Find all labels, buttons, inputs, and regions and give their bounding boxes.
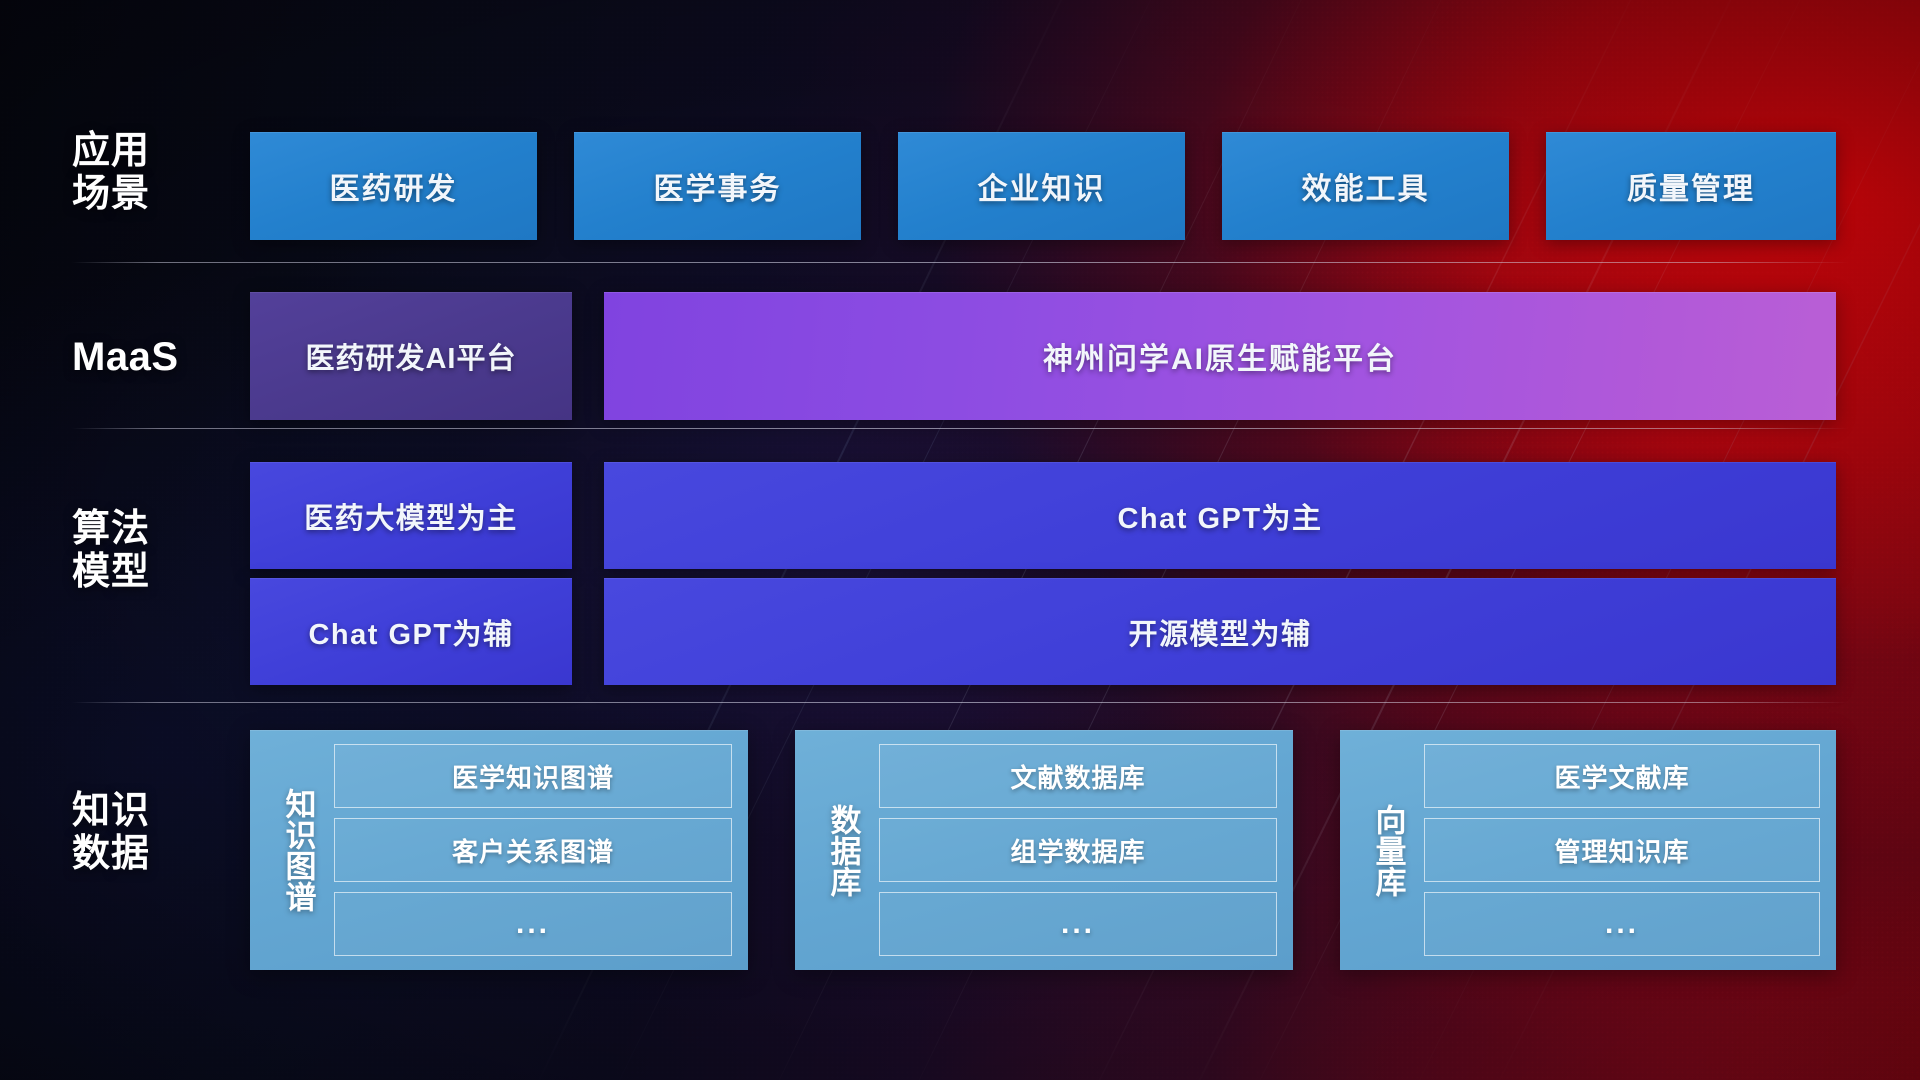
knowledge-item-more[interactable]: ... [879, 892, 1277, 956]
app-box-label: 医学事务 [654, 164, 782, 208]
maas-enablement-platform-label: 神州问学AI原生赋能平台 [1043, 334, 1397, 378]
knowledge-group-vertical-label: 向量库 [1350, 744, 1424, 956]
knowledge-item[interactable]: 管理知识库 [1424, 818, 1820, 882]
row-label-maas: MaaS [72, 335, 262, 381]
row-label-line: 应用 [72, 130, 262, 173]
app-box-4[interactable]: 效能工具 [1222, 132, 1509, 240]
knowledge-group-items: 医学文献库 管理知识库 ... [1424, 744, 1820, 956]
knowledge-item-more[interactable]: ... [334, 892, 732, 956]
knowledge-item[interactable]: 文献数据库 [879, 744, 1277, 808]
knowledge-group-vertical-label: 数据库 [805, 744, 879, 956]
divider-3 [72, 702, 1848, 703]
app-box-label: 医药研发 [330, 164, 458, 208]
architecture-diagram: 应用 场景 医药研发 医学事务 企业知识 效能工具 质量管理 MaaS 医药研发… [0, 0, 1920, 1080]
row-label-algorithm-models: 算法 模型 [72, 508, 262, 595]
app-box-5[interactable]: 质量管理 [1546, 132, 1836, 240]
algo-box-label: Chat GPT为主 [1117, 495, 1322, 537]
maas-platform-box[interactable]: 医药研发AI平台 [250, 292, 572, 420]
row-label-line: 数据 [72, 833, 262, 876]
knowledge-item[interactable]: 医学文献库 [1424, 744, 1820, 808]
algo-box-primary-right[interactable]: Chat GPT为主 [604, 462, 1836, 569]
app-box-label: 效能工具 [1302, 164, 1430, 208]
row-label-application-scenarios: 应用 场景 [72, 130, 262, 217]
algo-box-primary-left[interactable]: 医药大模型为主 [250, 462, 572, 569]
app-box-1[interactable]: 医药研发 [250, 132, 537, 240]
knowledge-item-more[interactable]: ... [1424, 892, 1820, 956]
row-label-knowledge-data: 知识 数据 [72, 790, 262, 877]
knowledge-group-vertical-label: 知识图谱 [260, 744, 334, 956]
algo-box-label: 医药大模型为主 [304, 495, 518, 537]
row-label-line: 场景 [72, 173, 262, 216]
app-box-2[interactable]: 医学事务 [574, 132, 861, 240]
knowledge-item[interactable]: 组学数据库 [879, 818, 1277, 882]
knowledge-group-items: 医学知识图谱 客户关系图谱 ... [334, 744, 732, 956]
maas-platform-label: 医药研发AI平台 [305, 335, 516, 377]
algo-box-secondary-right[interactable]: 开源模型为辅 [604, 578, 1836, 685]
divider-1 [72, 262, 1848, 263]
row-label-line: 模型 [72, 551, 262, 594]
knowledge-group-items: 文献数据库 组学数据库 ... [879, 744, 1277, 956]
knowledge-group-database[interactable]: 数据库 文献数据库 组学数据库 ... [795, 730, 1293, 970]
app-box-label: 企业知识 [978, 164, 1106, 208]
knowledge-item[interactable]: 客户关系图谱 [334, 818, 732, 882]
knowledge-item[interactable]: 医学知识图谱 [334, 744, 732, 808]
row-label-line: 算法 [72, 508, 262, 551]
algo-box-label: 开源模型为辅 [1128, 611, 1311, 653]
algo-box-label: Chat GPT为辅 [308, 611, 513, 653]
maas-enablement-platform-box[interactable]: 神州问学AI原生赋能平台 [604, 292, 1836, 420]
knowledge-group-vector-store[interactable]: 向量库 医学文献库 管理知识库 ... [1340, 730, 1836, 970]
algo-box-secondary-left[interactable]: Chat GPT为辅 [250, 578, 572, 685]
row-label-line: 知识 [72, 790, 262, 833]
app-box-3[interactable]: 企业知识 [898, 132, 1185, 240]
row-label-line: MaaS [72, 335, 262, 381]
knowledge-group-graph[interactable]: 知识图谱 医学知识图谱 客户关系图谱 ... [250, 730, 748, 970]
app-box-label: 质量管理 [1627, 164, 1755, 208]
divider-2 [72, 428, 1848, 429]
